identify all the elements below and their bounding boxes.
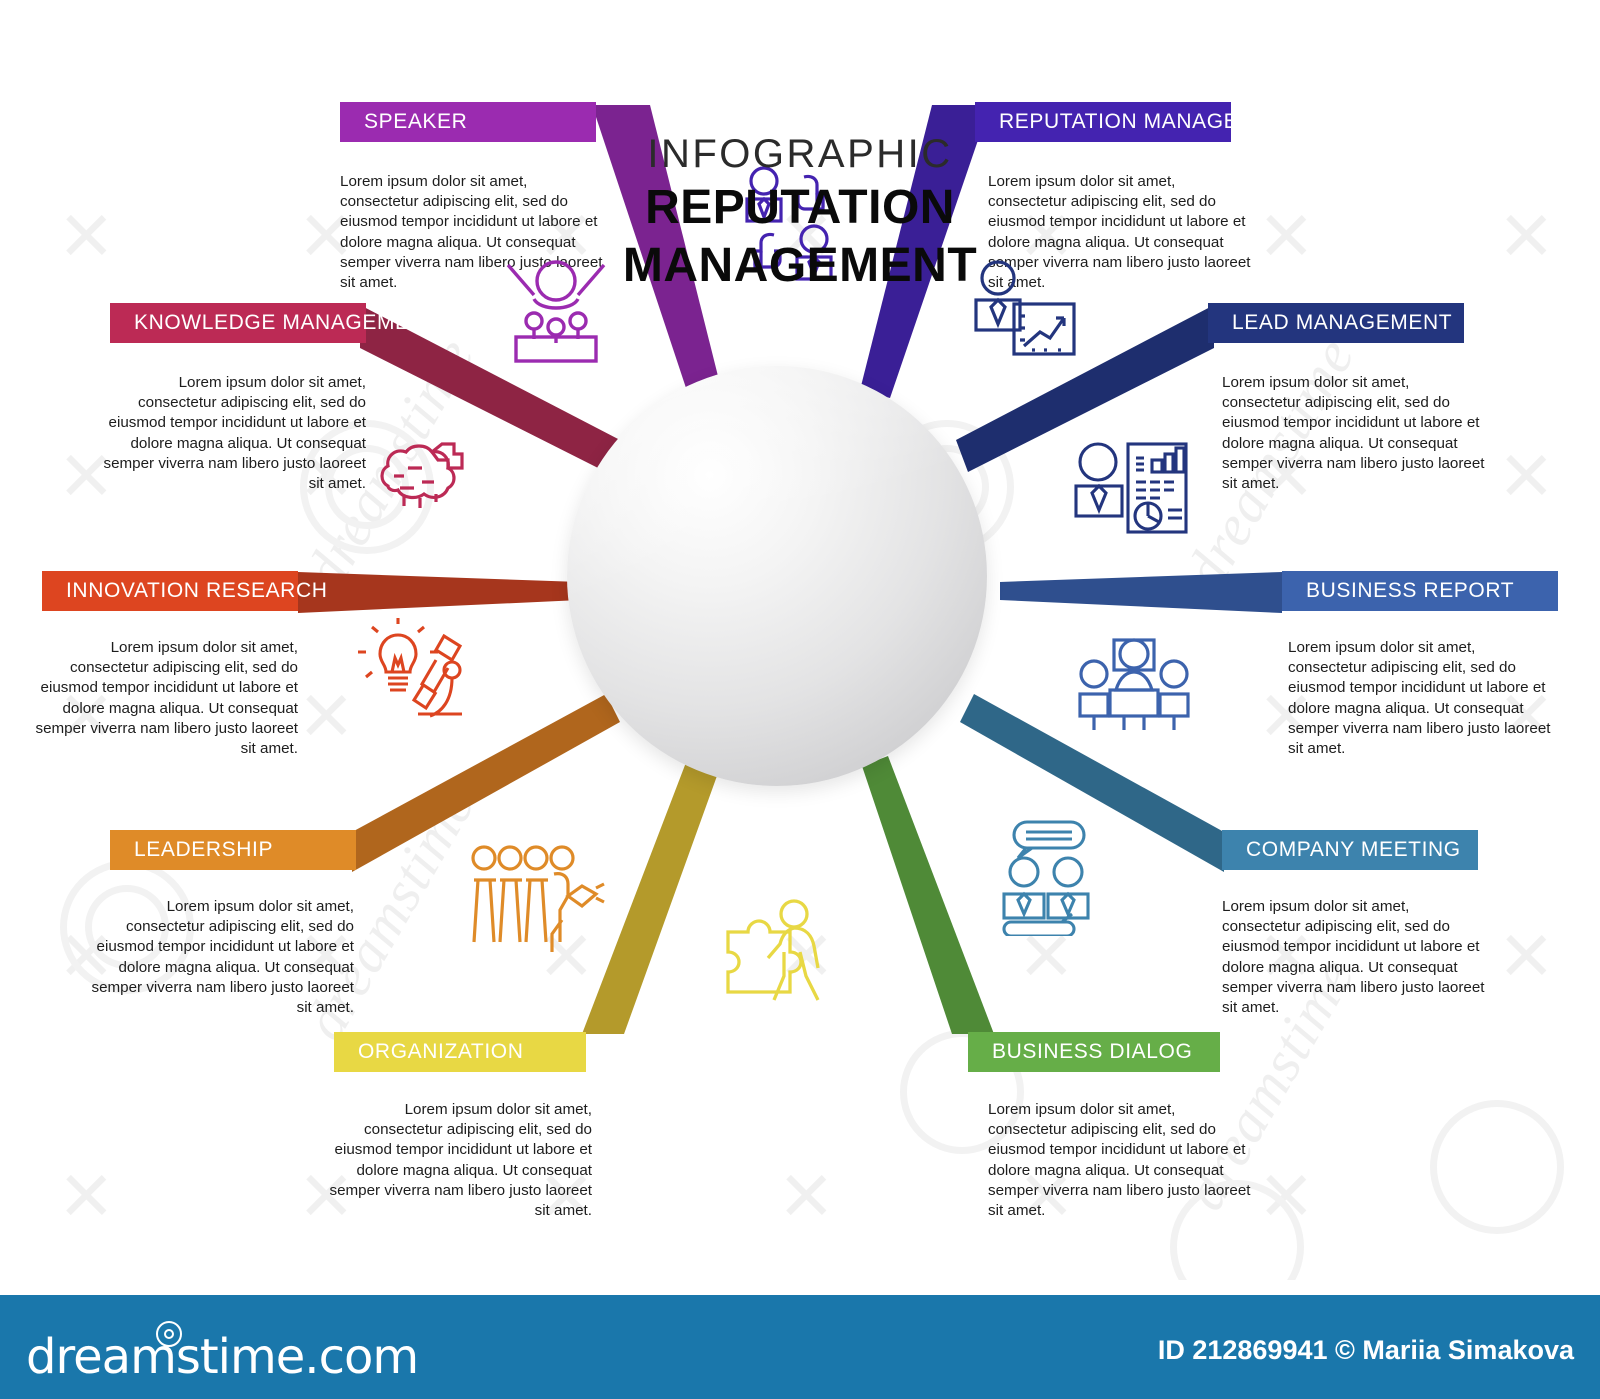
brain-puzzle-icon <box>374 432 482 533</box>
megaphone-crowd-icon <box>468 840 606 957</box>
sphere-highlight <box>567 366 987 786</box>
banner-lead-management[interactable]: LEAD MANAGEMENT <box>1208 303 1464 343</box>
center-text-block: INFOGRAPHIC REPUTATION MANAGEMENT <box>0 132 1600 293</box>
banner-label-knowledge-management: KNOWLEDGE MANAGEMENT <box>134 311 439 335</box>
body-organization: Lorem ipsum dolor sit amet, consectetur … <box>326 1100 592 1221</box>
infographic-canvas: × × × × × × × × × × × × × × × × × × × × … <box>0 0 1600 1399</box>
puzzle-person-icon <box>722 898 826 1007</box>
bulb-microscope-icon <box>352 618 472 731</box>
banner-label-lead-management: LEAD MANAGEMENT <box>1232 311 1452 335</box>
body-business-dialog: Lorem ipsum dolor sit amet, consectetur … <box>988 1100 1254 1221</box>
center-sphere <box>567 366 987 786</box>
footer-top-spacer <box>0 1280 1600 1295</box>
banner-label-speaker: SPEAKER <box>364 110 467 134</box>
body-leadership: Lorem ipsum dolor sit amet, consectetur … <box>88 897 354 1018</box>
banner-label-business-report: BUSINESS REPORT <box>1306 579 1514 603</box>
body-knowledge-management: Lorem ipsum dolor sit amet, consectetur … <box>100 373 366 494</box>
banner-leadership[interactable]: LEADERSHIP <box>110 830 356 870</box>
banner-label-leadership: LEADERSHIP <box>134 838 273 862</box>
banner-business-report[interactable]: BUSINESS REPORT <box>1282 571 1558 611</box>
registered-mark-icon <box>156 1321 182 1347</box>
body-company-meeting: Lorem ipsum dolor sit amet, consectetur … <box>1222 897 1488 1018</box>
banner-label-company-meeting: COMPANY MEETING <box>1246 838 1461 862</box>
dreamstime-logo: dreamstime.com <box>26 1329 418 1385</box>
center-title-line1: REPUTATION <box>0 181 1600 235</box>
banner-organization[interactable]: ORGANIZATION <box>334 1032 586 1072</box>
banner-business-dialog[interactable]: BUSINESS DIALOG <box>968 1032 1220 1072</box>
meeting-table-icon <box>1076 636 1192 737</box>
center-eyebrow: INFOGRAPHIC <box>0 132 1600 177</box>
report-document-icon <box>1072 436 1190 545</box>
banner-innovation-research[interactable]: INNOVATION RESEARCH <box>42 571 298 611</box>
dreamstime-footer: dreamstime.com ID 212869941 © Mariia Sim… <box>0 1295 1600 1399</box>
banner-company-meeting[interactable]: COMPANY MEETING <box>1222 830 1478 870</box>
spoke-innovation-research <box>298 572 580 613</box>
banner-label-organization: ORGANIZATION <box>358 1040 523 1064</box>
banner-label-innovation-research: INNOVATION RESEARCH <box>66 579 327 603</box>
body-business-report: Lorem ipsum dolor sit amet, consectetur … <box>1288 638 1554 759</box>
spoke-business-dialog <box>862 756 994 1034</box>
body-lead-management: Lorem ipsum dolor sit amet, consectetur … <box>1222 373 1488 494</box>
body-innovation-research: Lorem ipsum dolor sit amet, consectetur … <box>32 638 298 759</box>
speech-bubble-people-icon <box>992 818 1096 941</box>
banner-knowledge-management[interactable]: KNOWLEDGE MANAGEMENT <box>110 303 366 343</box>
image-credit: ID 212869941 © Mariia Simakova <box>1158 1335 1574 1366</box>
banner-label-business-dialog: BUSINESS DIALOG <box>992 1040 1192 1064</box>
center-title-line2: MANAGEMENT <box>0 239 1600 293</box>
spoke-business-report <box>1000 572 1282 613</box>
banner-label-reputation-management: REPUTATION MANAGEMENT <box>999 110 1300 134</box>
